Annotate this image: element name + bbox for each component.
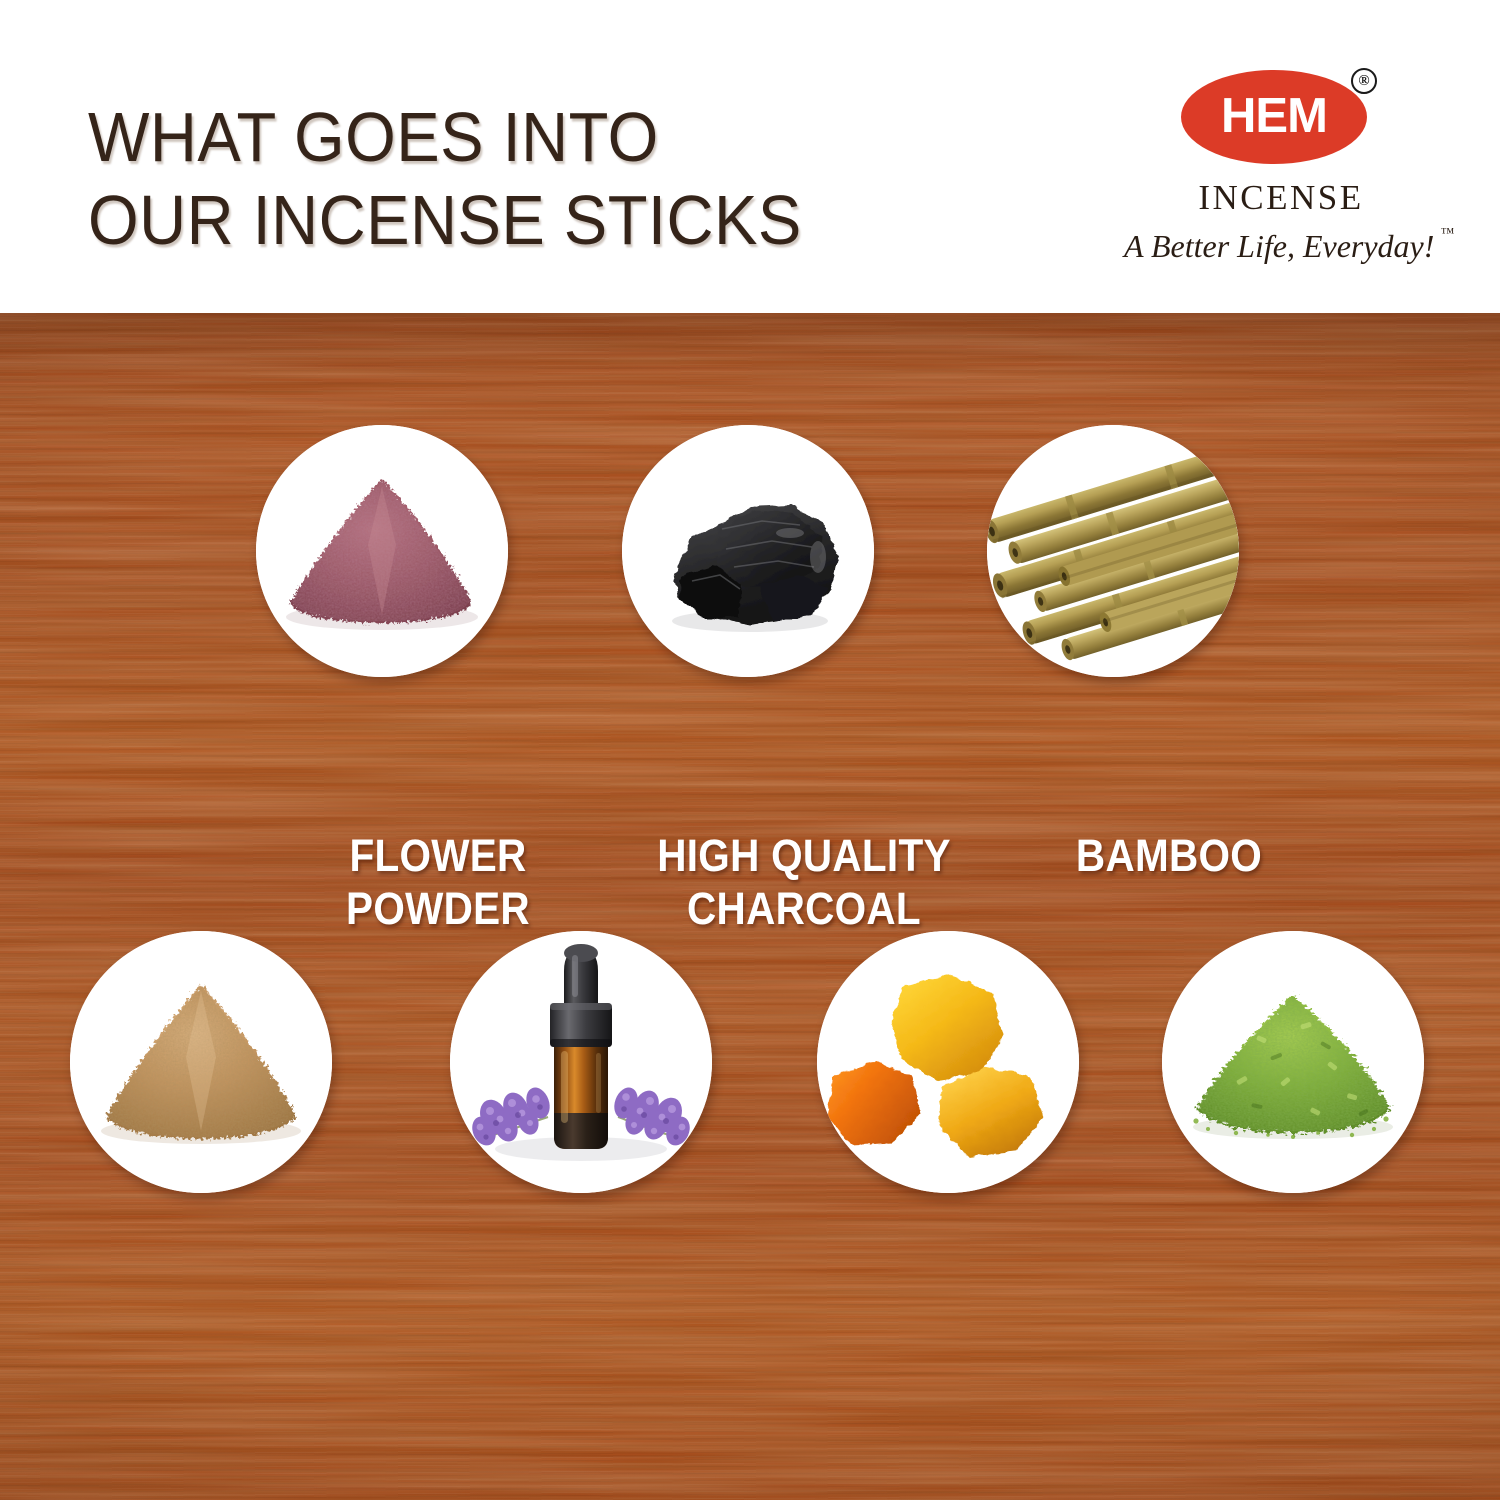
- charcoal-chunks-photo: [622, 425, 874, 677]
- logo-badge: HEM ®: [1181, 70, 1377, 168]
- wood-powder-disc[interactable]: [70, 931, 332, 1193]
- bamboo-sticks-photo: [987, 425, 1239, 677]
- pure-herbs-disc[interactable]: [1162, 931, 1424, 1193]
- trademark-icon: ™: [1441, 226, 1455, 242]
- resin-chunks-photo: [817, 931, 1079, 1193]
- logo-tagline-wrap: A Better Life, Everyday! ™: [1124, 228, 1434, 265]
- wood-powder-photo: [70, 931, 332, 1193]
- charcoal-disc[interactable]: [622, 425, 874, 677]
- header-bar: WHAT GOES INTO OUR INCENSE STICKS HEM ® …: [0, 0, 1500, 313]
- flower-powder-photo: [256, 425, 508, 677]
- registered-trademark-icon: ®: [1351, 68, 1377, 94]
- natural-resins-disc[interactable]: [817, 931, 1079, 1193]
- caption-bamboo: BAMBOO: [989, 829, 1349, 882]
- logo-tagline: A Better Life, Everyday!: [1124, 228, 1434, 264]
- page-title: WHAT GOES INTO OUR INCENSE STICKS: [88, 96, 944, 263]
- hem-logo: HEM ® INCENSE A Better Life, Everyday! ™: [1124, 70, 1434, 265]
- wood-background-panel: FLOWER POWDER: [0, 313, 1500, 1500]
- dried-herbs-photo: [1162, 931, 1424, 1193]
- caption-flower-powder: FLOWER POWDER: [258, 829, 618, 935]
- flower-powder-disc[interactable]: [256, 425, 508, 677]
- caption-high-quality-charcoal: HIGH QUALITY CHARCOAL: [624, 829, 984, 935]
- logo-brand-text: HEM: [1181, 70, 1367, 164]
- bamboo-disc[interactable]: [987, 425, 1239, 677]
- essential-oils-disc[interactable]: [450, 931, 712, 1193]
- essential-oil-bottle-photo: [450, 931, 712, 1193]
- infographic-root: WHAT GOES INTO OUR INCENSE STICKS HEM ® …: [0, 0, 1500, 1500]
- logo-subtitle: INCENSE: [1124, 178, 1434, 218]
